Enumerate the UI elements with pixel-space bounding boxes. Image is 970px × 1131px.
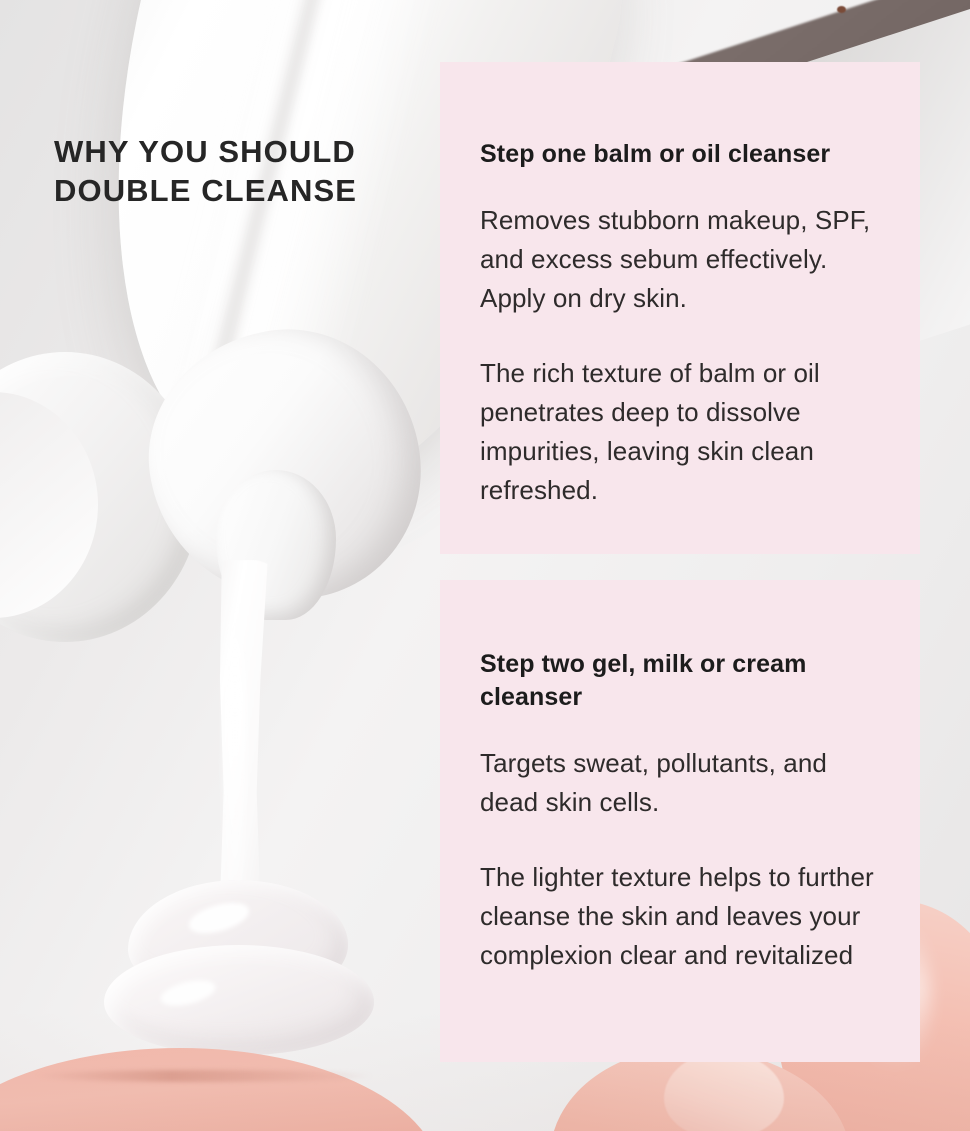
- page-title: WHY YOU SHOULD DOUBLE CLEANSE: [54, 132, 414, 210]
- step-one-card: Step one balm or oil cleanser Removes st…: [440, 62, 920, 554]
- step-two-card: Step two gel, milk or cream cleanser Tar…: [440, 580, 920, 1062]
- step-two-paragraph-1: Targets sweat, pollutants, and dead skin…: [480, 744, 880, 822]
- surface-speck: [837, 6, 846, 13]
- step-one-paragraph-2: The rich texture of balm or oil penetrat…: [480, 354, 880, 510]
- step-one-paragraph-1: Removes stubborn makeup, SPF, and excess…: [480, 201, 880, 318]
- cream-stream-highlight: [224, 580, 246, 920]
- step-one-title: Step one balm or oil cleanser: [480, 62, 880, 171]
- step-two-paragraph-2: The lighter texture helps to further cle…: [480, 858, 880, 975]
- double-cleanse-infographic: WHY YOU SHOULD DOUBLE CLEANSE Step one b…: [0, 0, 970, 1131]
- step-two-title: Step two gel, milk or cream cleanser: [480, 580, 880, 714]
